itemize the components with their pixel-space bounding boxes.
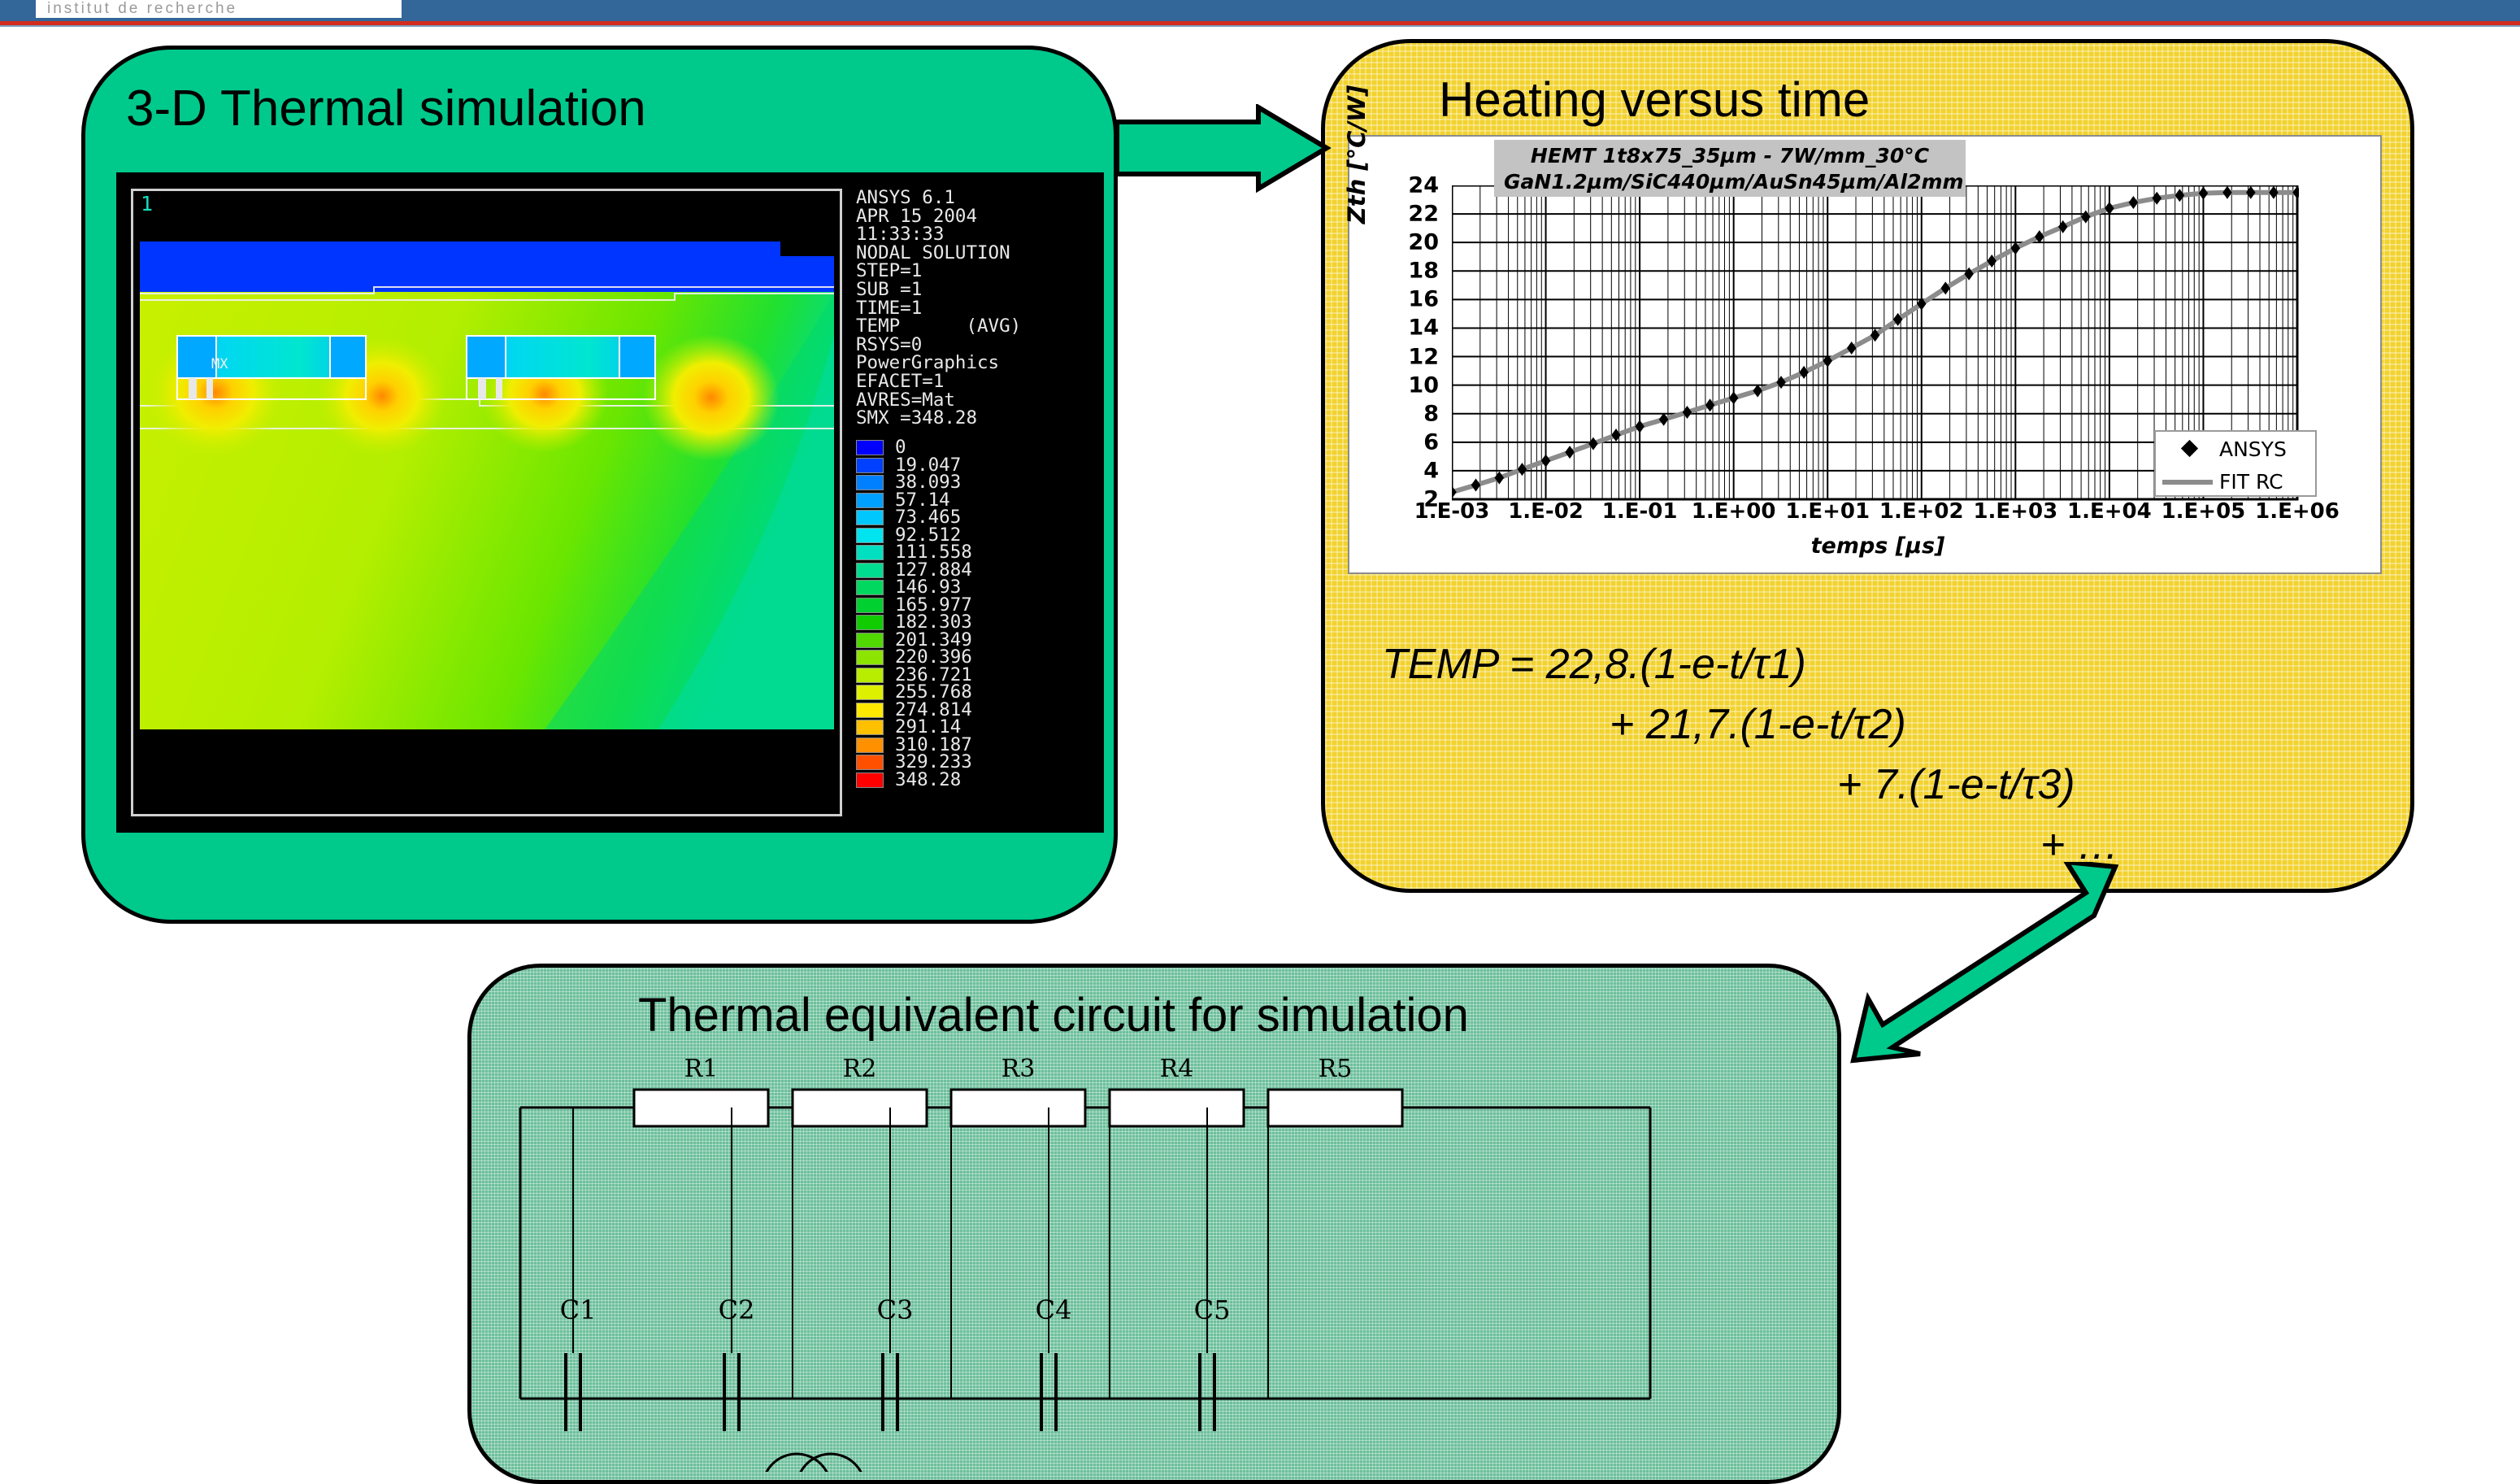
- color-scale-row: 0: [856, 439, 1100, 457]
- line-marker-icon: [2162, 480, 2213, 485]
- color-swatch: [856, 528, 884, 543]
- color-swatch: [856, 545, 884, 560]
- color-scale-row: 73.465: [856, 509, 1100, 527]
- color-scale-row: 146.93: [856, 579, 1100, 597]
- color-swatch: [856, 458, 884, 473]
- color-scale-row: 127.884: [856, 562, 1100, 580]
- y-tick-label: 8: [1374, 401, 1439, 426]
- color-swatch: [856, 510, 884, 525]
- color-swatch: [856, 475, 884, 490]
- ansys-info-text: ANSYS 6.1 APR 15 2004 11:33:33 NODAL SOL…: [856, 189, 1100, 428]
- color-scale-row: 329.233: [856, 754, 1100, 772]
- capacitor-label: C1: [560, 1295, 597, 1325]
- zth-chart-ylabel: Zth [°C/W]: [1343, 65, 1371, 244]
- color-swatch: [856, 615, 884, 630]
- zth-chart-xlabel: temps [µs]: [1455, 533, 2301, 559]
- capacitor-label: C5: [1194, 1295, 1231, 1325]
- legend-item-fitrc: FIT RC: [2156, 464, 2315, 497]
- zth-chart-subtitle: GaN1.2µm/SiC440µm/AuSn45µm/Al2mm: [1504, 169, 1956, 195]
- color-scale-row: 57.14: [856, 492, 1100, 510]
- color-swatch: [856, 633, 884, 648]
- zth-chart-legend: ANSYS FIT RC: [2154, 430, 2317, 497]
- resistor-label: R1: [684, 1055, 719, 1083]
- resistor-body: [1110, 1090, 1244, 1126]
- y-tick-label: 18: [1374, 259, 1439, 284]
- formula-line-2: + 21,7.(1-e-t/τ2): [1374, 694, 2374, 755]
- capacitor-label: C2: [719, 1295, 755, 1325]
- color-swatch: [856, 598, 884, 613]
- thermal-contour-plot: MX: [138, 196, 834, 808]
- y-tick-label: 20: [1374, 230, 1439, 255]
- color-swatch: [856, 650, 884, 665]
- y-tick-label: 16: [1374, 287, 1439, 312]
- institute-logo-label: institut de recherche: [47, 0, 397, 18]
- color-swatch: [856, 493, 884, 508]
- diamond-marker-icon: [2181, 440, 2198, 457]
- capacitor-label: C4: [1036, 1295, 1072, 1325]
- legend-label-ansys: ANSYS: [2219, 437, 2287, 461]
- color-swatch: [856, 668, 884, 683]
- y-tick-label: 6: [1374, 429, 1439, 455]
- color-scale-row: 255.768: [856, 684, 1100, 702]
- ansys-view-index: 1: [141, 192, 153, 215]
- y-tick-label: 22: [1374, 202, 1439, 227]
- zth-chart-title: HEMT 1t8x75_35µm - 7W/mm_30°C: [1504, 143, 1956, 169]
- color-swatch: [856, 772, 884, 788]
- color-swatch: [856, 580, 884, 595]
- y-tick-label: 14: [1374, 316, 1439, 341]
- color-swatch: [856, 755, 884, 770]
- temp-formula: TEMP = 22,8.(1-e-t/τ1) + 21,7.(1-e-t/τ2)…: [1374, 634, 2374, 875]
- color-scale-row: 348.28: [856, 772, 1100, 790]
- color-scale-row: 236.721: [856, 667, 1100, 685]
- color-scale-row: 38.093: [856, 474, 1100, 492]
- color-scale-value: 348.28: [895, 772, 961, 790]
- y-tick-label: 12: [1374, 344, 1439, 369]
- resistor-label: R3: [1001, 1055, 1036, 1083]
- ansys-color-scale: 019.04738.09357.1473.46592.512111.558127…: [856, 439, 1100, 789]
- color-scale-row: 92.512: [856, 527, 1100, 545]
- ansys-result-image: MX 1 ANSYS 6.1 APR 15 2004 11:33:33 NODA…: [116, 172, 1104, 833]
- legend-label-fitrc: FIT RC: [2219, 470, 2283, 494]
- resistor-label: R4: [1160, 1055, 1194, 1083]
- x-tick-label: 1.E+06: [2232, 499, 2362, 524]
- formula-line-1: TEMP = 22,8.(1-e-t/τ1): [1374, 634, 2374, 694]
- color-scale-row: 19.047: [856, 457, 1100, 475]
- y-tick-label: 10: [1374, 372, 1439, 398]
- color-swatch: [856, 440, 884, 455]
- zth-chart-title-box: HEMT 1t8x75_35µm - 7W/mm_30°C GaN1.2µm/S…: [1494, 140, 1966, 197]
- resistor-body: [793, 1090, 927, 1126]
- color-swatch: [856, 738, 884, 753]
- color-scale-row: 291.14: [856, 719, 1100, 737]
- thermal-contour-svg: MX: [138, 196, 834, 808]
- color-scale-row: 182.303: [856, 614, 1100, 632]
- circuit-schematic: R1R2R3R4R5C1C2C3C4C5I = PdissipéeU=Tchuc…: [488, 1049, 1821, 1476]
- resistor-label: R2: [843, 1055, 877, 1083]
- color-scale-row: 111.558: [856, 544, 1100, 562]
- color-scale-row: 165.977: [856, 597, 1100, 615]
- legend-item-ansys: ANSYS: [2156, 432, 2315, 464]
- arrow-heating-to-circuit: [1797, 862, 2122, 1069]
- svg-text:MX: MX: [211, 356, 228, 372]
- capacitor-label: C3: [877, 1295, 914, 1325]
- y-tick-label: 24: [1374, 173, 1439, 198]
- color-scale-row: 220.396: [856, 649, 1100, 667]
- color-scale-row: 274.814: [856, 702, 1100, 720]
- y-tick-label: 4: [1374, 458, 1439, 483]
- arrow-sim-to-heating: [1114, 104, 1333, 198]
- color-swatch: [856, 685, 884, 700]
- color-swatch: [856, 703, 884, 718]
- circuit-panel-title: Thermal equivalent circuit for simulatio…: [638, 988, 1469, 1042]
- color-swatch: [856, 720, 884, 735]
- color-scale-row: 201.349: [856, 632, 1100, 650]
- resistor-body: [951, 1090, 1085, 1126]
- resistor-body: [1268, 1090, 1402, 1126]
- color-swatch: [856, 563, 884, 578]
- resistor-label: R5: [1319, 1055, 1353, 1083]
- color-scale-row: 310.187: [856, 737, 1100, 755]
- circuit-svg: R1R2R3R4R5C1C2C3C4C5I = PdissipéeU=Tchuc…: [488, 1049, 1821, 1472]
- heating-panel-title: Heating versus time: [1439, 72, 1870, 128]
- simulation-panel-title: 3-D Thermal simulation: [126, 80, 858, 138]
- header-blue-rule: [0, 25, 2520, 27]
- formula-line-3: + 7.(1-e-t/τ3): [1374, 755, 2374, 815]
- resistor-body: [634, 1090, 768, 1126]
